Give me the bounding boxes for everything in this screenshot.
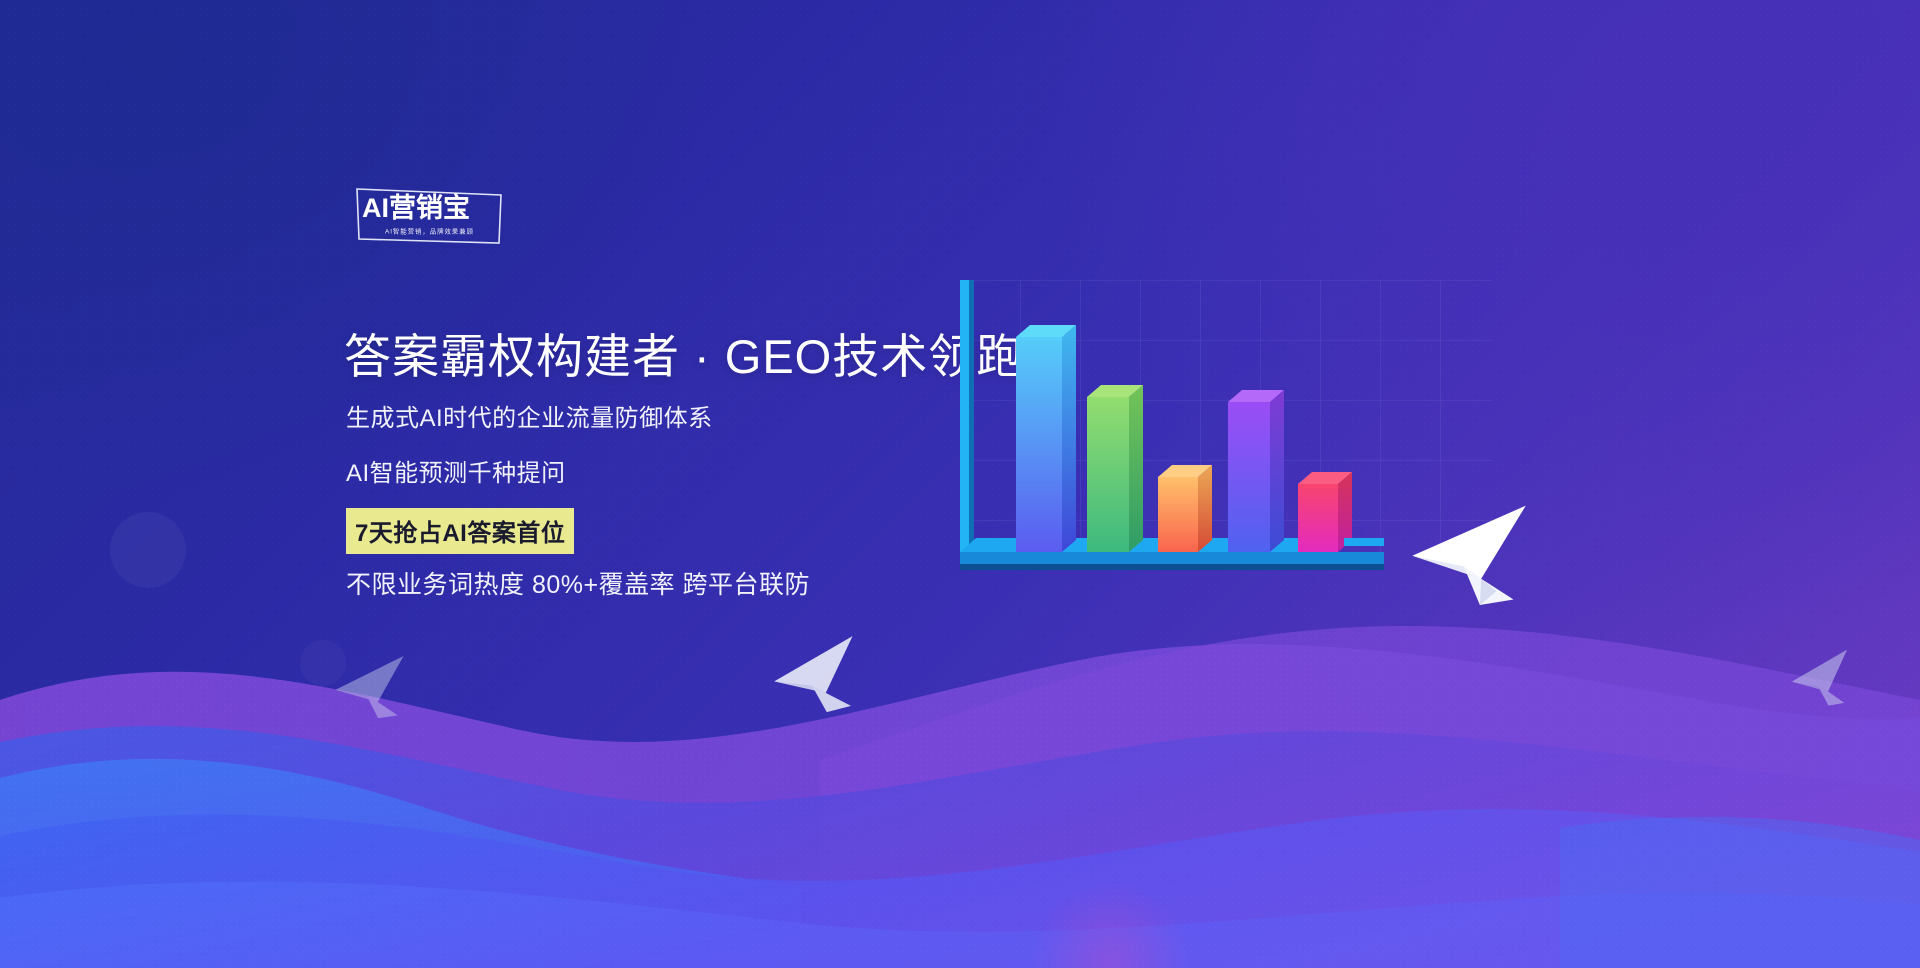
chart-bar	[1158, 465, 1212, 552]
chart-bar	[1298, 472, 1352, 552]
brand-logo[interactable]: AI营销宝 AI智能营销，品牌效果兼顾	[355, 185, 503, 247]
hero-banner: AI营销宝 AI智能营销，品牌效果兼顾 答案霸权构建者 · GEO技术领跑者 生…	[0, 0, 1920, 968]
decor-circle-small	[300, 640, 346, 686]
chart-bar	[1228, 390, 1284, 552]
subtitle-line-2: AI智能预测千种提问	[346, 453, 566, 488]
feature-footnote: 不限业务词热度 80%+覆盖率 跨平台联防	[346, 565, 810, 601]
chart-bar	[1016, 325, 1076, 552]
subtitle-line-1: 生成式AI时代的企业流量防御体系	[346, 398, 713, 433]
chart-bar	[1087, 385, 1143, 552]
logo-wordmark: AI营销宝	[362, 195, 470, 222]
logo-tagline: AI智能营销，品牌效果兼顾	[385, 227, 474, 236]
highlight-badge: 7天抢占AI答案首位	[346, 508, 574, 554]
bar-chart	[960, 280, 1500, 680]
highlight-wrapper: 7天抢占AI答案首位	[346, 508, 574, 554]
chart-y-axis	[960, 280, 974, 560]
decor-circle-left	[110, 512, 186, 588]
